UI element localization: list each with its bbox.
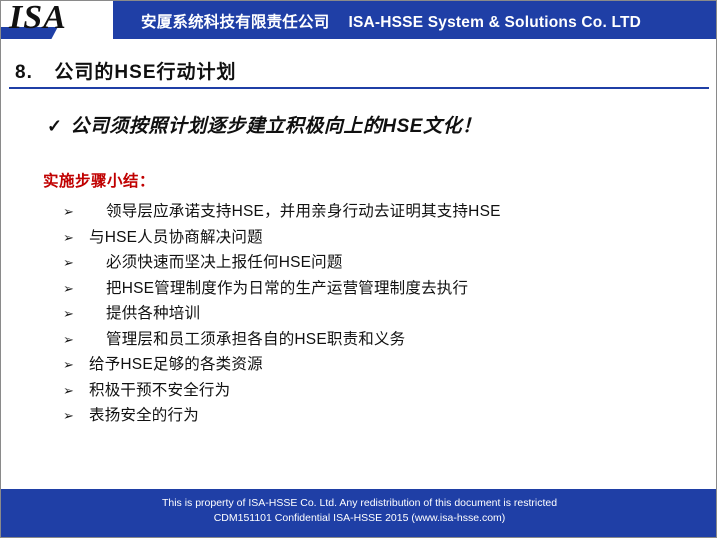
- arrow-bullet-icon: ➢: [63, 232, 89, 245]
- arrow-bullet-icon: ➢: [63, 410, 89, 423]
- list-item: ➢ 与HSE人员协商解决问题: [63, 225, 703, 251]
- page-title-number: 8.: [15, 62, 33, 83]
- slide: ISA 安厦系统科技有限责任公司 ISA-HSSE System & Solut…: [0, 0, 717, 538]
- list-item: ➢ 把HSE管理制度作为日常的生产运营管理制度去执行: [63, 276, 703, 302]
- slide-footer: This is property of ISA-HSSE Co. Ltd. An…: [1, 489, 717, 537]
- key-statement-text: 公司须按照计划逐步建立积极向上的HSE文化！: [70, 116, 481, 137]
- key-statement: ✓ 公司须按照计划逐步建立积极向上的HSE文化！: [47, 111, 481, 138]
- section-subheading: 实施步骤小结：: [43, 169, 155, 191]
- bullet-list: ➢ 领导层应承诺支持HSE，并用亲身行动去证明其支持HSE ➢ 与HSE人员协商…: [63, 199, 703, 429]
- footer-confidential-line: CDM151101 Confidential ISA-HSSE 2015 (ww…: [1, 512, 717, 524]
- list-item: ➢ 领导层应承诺支持HSE，并用亲身行动去证明其支持HSE: [63, 199, 703, 225]
- footer-copyright-line: This is property of ISA-HSSE Co. Ltd. An…: [1, 497, 717, 509]
- list-item-label: 必须快速而坚决上报任何HSE问题: [89, 250, 343, 272]
- list-item: ➢ 积极干预不安全行为: [63, 378, 703, 404]
- arrow-bullet-icon: ➢: [63, 385, 89, 398]
- arrow-bullet-icon: ➢: [63, 308, 89, 321]
- arrow-bullet-icon: ➢: [63, 334, 89, 347]
- company-logo: ISA: [1, 1, 113, 39]
- header-title-en: ISA-HSSE System & Solutions Co. LTD: [348, 14, 641, 31]
- list-item: ➢ 提供各种培训: [63, 301, 703, 327]
- header-title-cn: 安厦系统科技有限责任公司: [141, 14, 329, 31]
- arrow-bullet-icon: ➢: [63, 359, 89, 372]
- check-icon: ✓: [47, 116, 63, 136]
- slide-header: ISA 安厦系统科技有限责任公司 ISA-HSSE System & Solut…: [1, 1, 717, 39]
- list-item-label: 提供各种培训: [89, 301, 200, 323]
- arrow-bullet-icon: ➢: [63, 206, 89, 219]
- list-item: ➢ 给予HSE足够的各类资源: [63, 352, 703, 378]
- page-title: 8. 公司的HSE行动计划: [15, 57, 237, 84]
- list-item-label: 给予HSE足够的各类资源: [89, 352, 263, 374]
- page-title-text: 公司的HSE行动计划: [54, 62, 236, 83]
- header-title: 安厦系统科技有限责任公司 ISA-HSSE System & Solutions…: [141, 10, 641, 32]
- arrow-bullet-icon: ➢: [63, 257, 89, 270]
- list-item: ➢ 表扬安全的行为: [63, 403, 703, 429]
- arrow-bullet-icon: ➢: [63, 283, 89, 296]
- list-item: ➢ 必须快速而坚决上报任何HSE问题: [63, 250, 703, 276]
- list-item-label: 领导层应承诺支持HSE，并用亲身行动去证明其支持HSE: [89, 199, 501, 221]
- title-divider: [9, 87, 709, 89]
- list-item-label: 把HSE管理制度作为日常的生产运营管理制度去执行: [89, 276, 468, 298]
- logo-text: ISA: [9, 1, 67, 37]
- list-item-label: 与HSE人员协商解决问题: [89, 225, 263, 247]
- list-item: ➢ 管理层和员工须承担各自的HSE职责和义务: [63, 327, 703, 353]
- list-item-label: 管理层和员工须承担各自的HSE职责和义务: [89, 327, 405, 349]
- list-item-label: 表扬安全的行为: [89, 403, 199, 425]
- list-item-label: 积极干预不安全行为: [89, 378, 230, 400]
